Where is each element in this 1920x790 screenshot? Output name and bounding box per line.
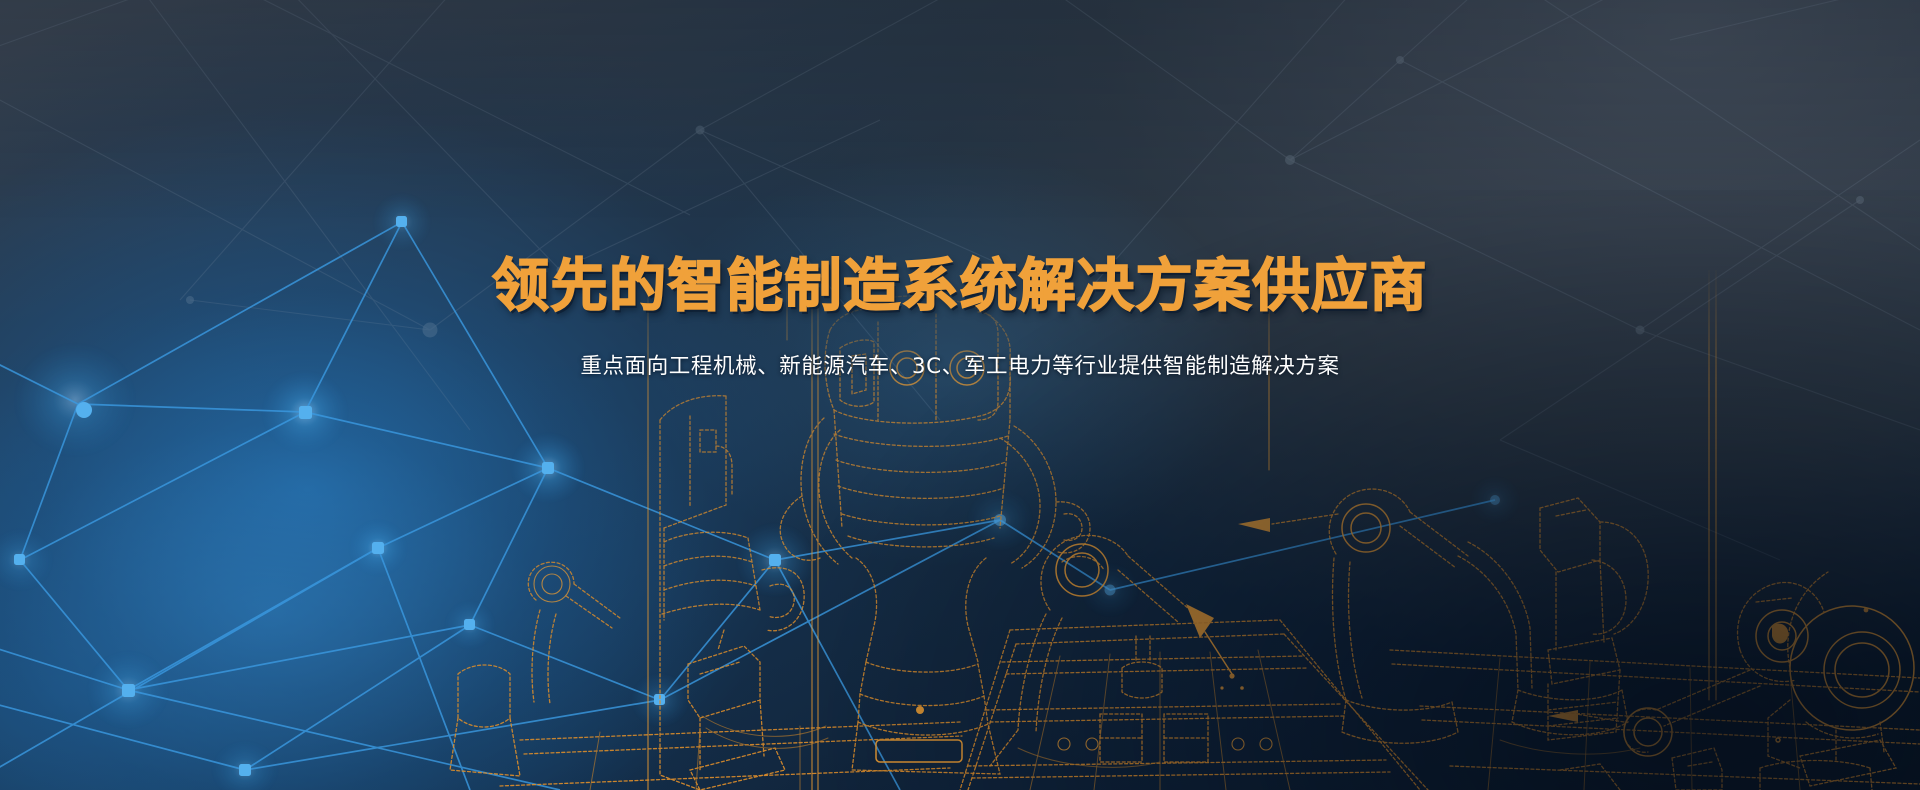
network-mesh-bright (0, 0, 1920, 790)
hero-banner: .ln { fill:none; stroke:#E89A33; stroke-… (0, 0, 1920, 790)
hero-headline: 领先的智能制造系统解决方案供应商 (0, 258, 1920, 315)
hero-subheadline: 重点面向工程机械、新能源汽车、3C、军工电力等行业提供智能制造解决方案 (0, 354, 1920, 380)
hero-copy: 领先的智能制造系统解决方案供应商 重点面向工程机械、新能源汽车、3C、军工电力等… (0, 258, 1920, 380)
